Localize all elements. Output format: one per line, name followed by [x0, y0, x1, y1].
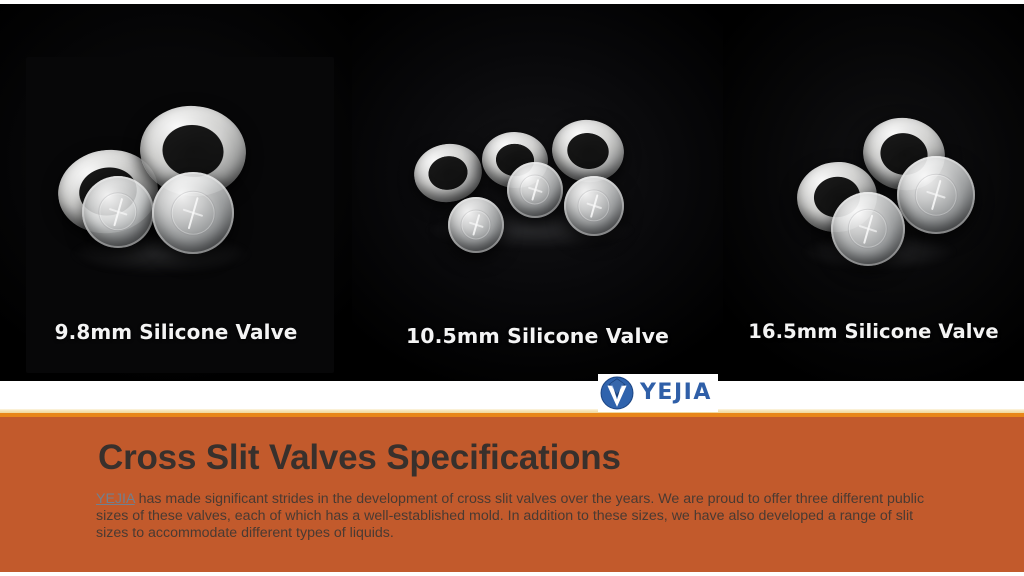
gallery-caption-10-5mm: 10.5mm Silicone Valve — [352, 324, 723, 348]
cross-slit-mark — [590, 194, 598, 217]
brand-wordmark: YEJIA — [640, 382, 712, 404]
accent-rule — [0, 413, 1024, 417]
cross-slit-mark — [859, 225, 878, 232]
body-paragraph: YEJIA has made significant strides in th… — [96, 491, 928, 542]
bottom-edge — [0, 572, 1024, 576]
cross-slit-mark — [586, 203, 601, 209]
valve-disc — [564, 176, 624, 236]
cross-slit-mark — [469, 222, 483, 228]
page-title: Cross Slit Valves Specifications — [98, 440, 621, 475]
cross-slit-mark — [528, 187, 542, 193]
cross-slit-mark — [926, 191, 946, 199]
gallery-panel-10-5mm[interactable]: 10.5mm Silicone Valve — [352, 4, 723, 381]
cross-slit-mark — [863, 215, 873, 244]
slide: 9.8mm Silicone Valve — [0, 0, 1024, 576]
brand-logo[interactable]: YEJIA — [598, 374, 718, 412]
product-gallery: 9.8mm Silicone Valve — [0, 4, 1024, 381]
cross-slit-mark — [183, 209, 204, 217]
valve-disc — [152, 172, 234, 254]
brand-link[interactable]: YEJIA — [96, 491, 135, 507]
gallery-caption-16-5mm: 16.5mm Silicone Valve — [723, 320, 1024, 343]
valve-disc — [897, 156, 975, 234]
gallery-panel-9-8mm[interactable]: 9.8mm Silicone Valve — [0, 4, 352, 381]
gallery-panel-16-5mm[interactable]: 16.5mm Silicone Valve — [723, 4, 1024, 381]
gallery-caption-9-8mm: 9.8mm Silicone Valve — [0, 320, 352, 344]
cross-slit-mark — [531, 179, 539, 201]
valve-disc — [831, 192, 905, 266]
cross-slit-mark — [109, 208, 127, 215]
content-band: Cross Slit Valves Specifications YEJIA h… — [0, 413, 1024, 572]
logo-band: YEJIA — [0, 381, 1024, 413]
cross-slit-mark — [188, 197, 198, 229]
valve-disc — [507, 162, 563, 218]
yejia-shield-icon — [600, 376, 634, 410]
valve-disc — [82, 176, 154, 248]
cross-slit-mark — [931, 180, 941, 210]
valve-disc — [448, 197, 504, 253]
cross-slit-mark — [472, 214, 480, 236]
cross-slit-mark — [113, 198, 122, 226]
body-text: has made significant strides in the deve… — [96, 491, 924, 541]
